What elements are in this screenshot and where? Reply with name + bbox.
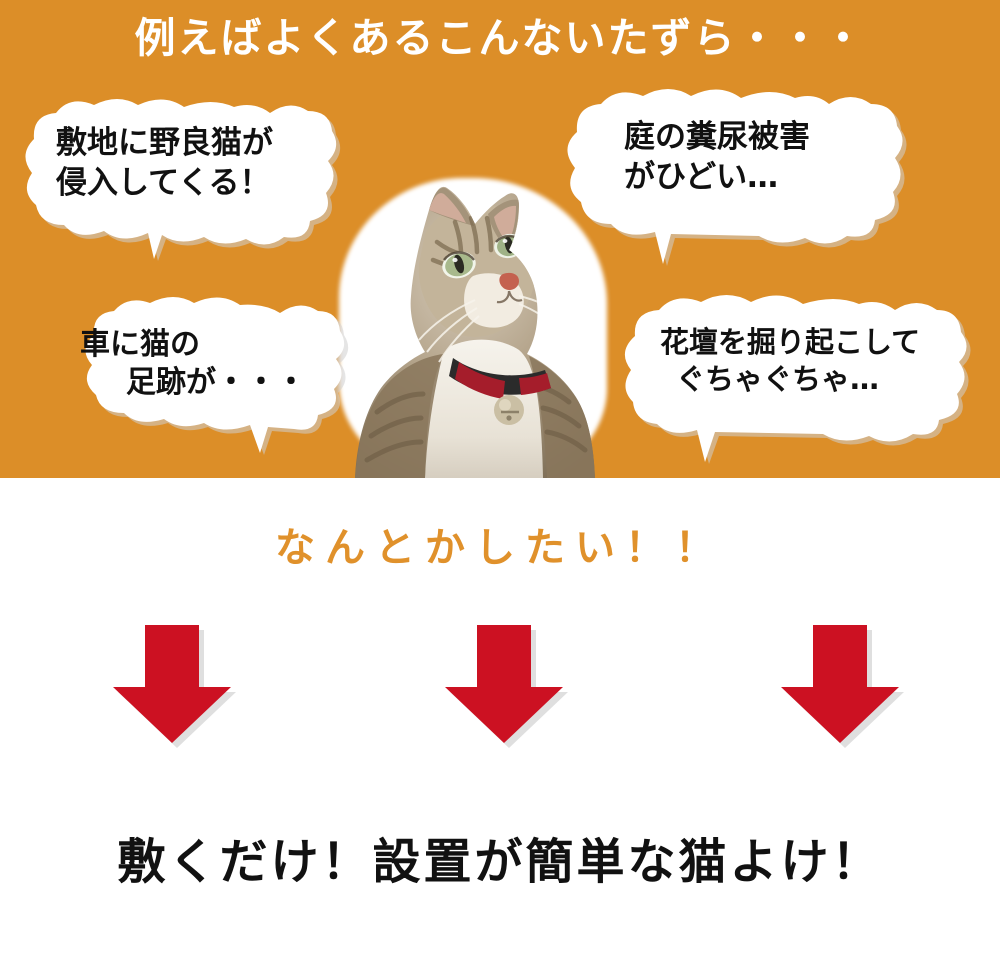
speech-bubble-stray-cat-intrusion: 敷地に野良猫が 侵入してくる！ (22, 96, 342, 268)
bottom-headline: 敷くだけ！設置が簡単な猫よけ！ (0, 822, 1000, 892)
speech-bubble-garden-feces-damage: 庭の糞尿被害 がひどい… (566, 88, 908, 266)
bubble-line-2: 侵入してくる！ (56, 165, 271, 201)
speech-bubble-flowerbed-dug-up: 花壇を掘り起こして ぐちゃぐちゃ… (626, 296, 974, 456)
down-arrow-icon (436, 618, 570, 746)
bubble-line-2: ぐちゃぐちゃ… (660, 361, 960, 398)
down-arrow-icon (104, 618, 238, 746)
bubble-line-1: 車に猫の (80, 327, 200, 362)
speech-bubble-car-pawprints: 車に猫の 足跡が・・・ (44, 300, 350, 446)
bubble-text: 庭の糞尿被害 がひどい… (624, 118, 900, 197)
promo-banner: 例えばよくあるこんないたずら・・・ (0, 0, 1000, 963)
bubble-line-1: 庭の糞尿被害 (624, 119, 810, 155)
bubble-text: 車に猫の 足跡が・・・ (80, 326, 344, 403)
bubble-line-1: 花壇を掘り起こして (660, 325, 920, 359)
bubble-line-2: 足跡が・・・ (80, 364, 344, 402)
wish-callout-text: なんとかしたい！！ (0, 515, 1000, 573)
bubble-text: 敷地に野良猫が 侵入してくる！ (56, 124, 316, 203)
bubble-text: 花壇を掘り起こして ぐちゃぐちゃ… (660, 324, 960, 398)
down-arrow-icon (772, 618, 906, 746)
bubble-line-1: 敷地に野良猫が (56, 125, 273, 161)
page-title: 例えばよくあるこんないたずら・・・ (0, 14, 1000, 63)
hero-orange-band: 例えばよくあるこんないたずら・・・ (0, 0, 1000, 478)
bubble-line-2: がひどい… (624, 159, 778, 195)
